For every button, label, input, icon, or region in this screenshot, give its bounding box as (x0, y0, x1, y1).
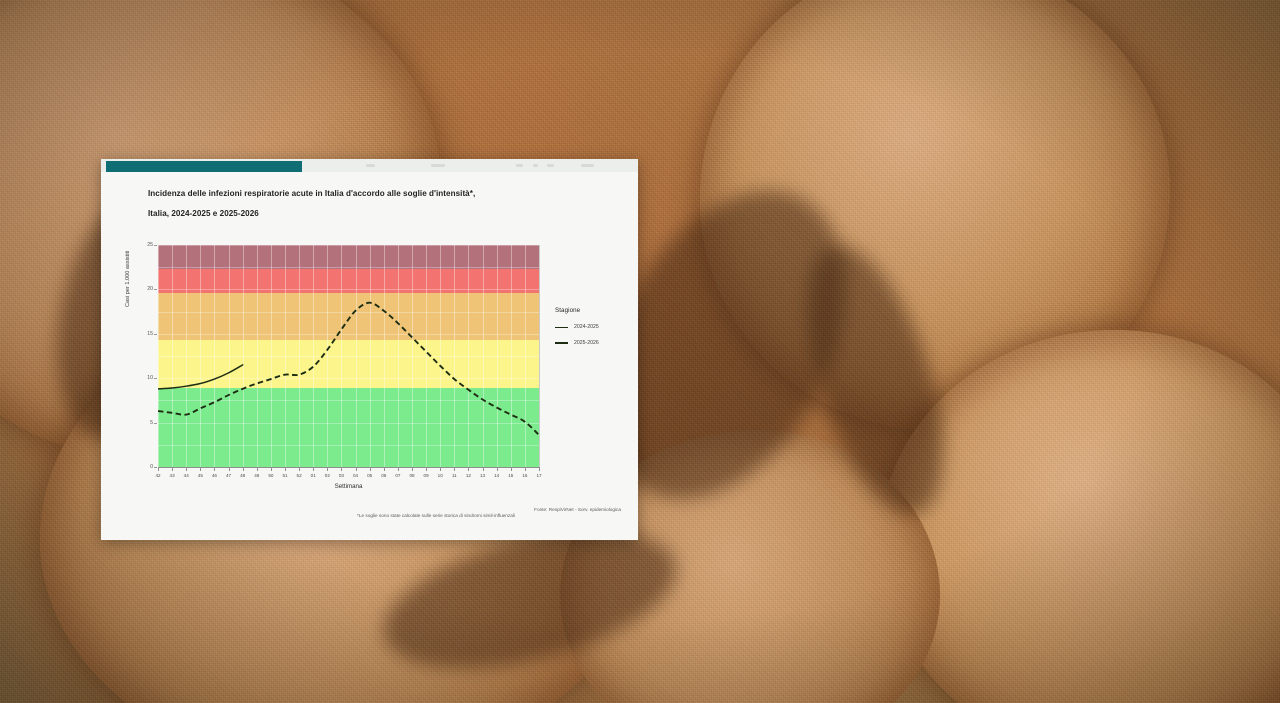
x-axis-tick-mark (327, 468, 328, 471)
x-axis-tick-mark (200, 468, 201, 471)
x-axis-tick-label: 02 (320, 473, 334, 478)
x-axis-tick-mark (172, 468, 173, 471)
legend-item-2025-2026: 2025-2026 (555, 337, 625, 349)
x-axis-tick-label: 13 (476, 473, 490, 478)
y-axis-tick-mark (154, 334, 157, 335)
x-axis-tick-mark (158, 468, 159, 471)
y-axis-tick-mark (154, 289, 157, 290)
y-axis-tick-label: 5 (135, 420, 153, 426)
chart-legend: Stagione 2024-2025 2025-2026 (555, 307, 625, 353)
x-axis-tick-mark (497, 468, 498, 471)
legend-item-label: 2025-2026 (574, 340, 599, 346)
x-axis-tick-mark (412, 468, 413, 471)
x-axis-tick-mark (257, 468, 258, 471)
chart-title: Incidenza delle infezioni respiratorie a… (148, 190, 618, 199)
y-axis-tick-mark (154, 467, 157, 468)
x-axis-tick-mark (398, 468, 399, 471)
y-axis-tick-mark (154, 423, 157, 424)
x-axis-tick-mark (440, 468, 441, 471)
x-axis-tick-label: 01 (306, 473, 320, 478)
chart-subtitle: Italia, 2024-2025 e 2025-2026 (148, 209, 259, 218)
gridline-vertical (539, 245, 540, 467)
x-axis-tick-label: 16 (518, 473, 532, 478)
y-axis-tick-label: 10 (135, 375, 153, 381)
x-axis-tick-label: 49 (250, 473, 264, 478)
legend-line-swatch (555, 327, 568, 328)
y-axis-tick-label: 15 (135, 331, 153, 337)
x-axis-label: Settimana (158, 483, 539, 490)
x-axis-tick-label: 06 (377, 473, 391, 478)
line-season-2025-2026 (158, 303, 539, 435)
x-axis-tick-mark (313, 468, 314, 471)
x-axis-tick-mark (370, 468, 371, 471)
y-axis-tick-label: 0 (135, 464, 153, 470)
x-axis-tick-mark (468, 468, 469, 471)
x-axis-tick-label: 51 (278, 473, 292, 478)
x-axis-tick-mark (511, 468, 512, 471)
x-axis-tick-mark (186, 468, 187, 471)
y-axis-tick-label: 25 (135, 242, 153, 248)
x-axis-tick-label: 17 (532, 473, 546, 478)
x-axis-tick-label: 45 (193, 473, 207, 478)
x-axis-tick-mark (299, 468, 300, 471)
x-axis-tick-label: 43 (165, 473, 179, 478)
screenshot-stage: Incidenza delle infezioni respiratorie a… (0, 0, 1280, 703)
x-axis-tick-mark (426, 468, 427, 471)
x-axis-tick-mark (525, 468, 526, 471)
x-axis-tick-label: 47 (222, 473, 236, 478)
chart-source-note: Fonte: RespiVirNet - Sorv. epidemiologic… (251, 507, 621, 520)
card-accent-bar (106, 161, 302, 172)
x-axis-tick-label: 05 (363, 473, 377, 478)
series-lines (158, 245, 539, 467)
x-axis-tick-label: 12 (461, 473, 475, 478)
legend-line-swatch (555, 342, 568, 344)
x-axis-tick-label: 07 (391, 473, 405, 478)
source-line-2: *Le soglie sono state calcolate sulle se… (251, 513, 621, 519)
chart-card: Incidenza delle infezioni respiratorie a… (101, 159, 638, 540)
x-axis-tick-label: 04 (349, 473, 363, 478)
x-axis-tick-label: 52 (292, 473, 306, 478)
x-axis-tick-label: 48 (236, 473, 250, 478)
line-season-2024-2025 (158, 365, 243, 389)
x-axis-tick-label: 50 (264, 473, 278, 478)
x-axis-tick-label: 10 (433, 473, 447, 478)
legend-item-label: 2024-2025 (574, 324, 599, 330)
y-axis-tick-label: 20 (135, 286, 153, 292)
x-axis-tick-label: 42 (151, 473, 165, 478)
plot-panel (158, 245, 540, 467)
x-axis-tick-mark (229, 468, 230, 471)
card-topbar-marks (311, 159, 638, 172)
x-axis-tick-label: 11 (447, 473, 461, 478)
card-top-bar (101, 159, 638, 172)
x-axis-tick-mark (341, 468, 342, 471)
x-axis-tick-mark (214, 468, 215, 471)
x-axis-tick-label: 14 (490, 473, 504, 478)
y-axis-label: Casi per 1.000 assistiti (125, 187, 131, 307)
x-axis-tick-label: 08 (405, 473, 419, 478)
x-axis-tick-label: 09 (419, 473, 433, 478)
legend-title: Stagione (555, 307, 625, 314)
x-axis-tick-label: 15 (504, 473, 518, 478)
plot-area: Casi per 1.000 assistiti 0510152025 4243… (121, 245, 621, 495)
x-axis-tick-mark (243, 468, 244, 471)
x-axis-tick-mark (539, 468, 540, 471)
x-axis-tick-mark (384, 468, 385, 471)
x-axis-tick-mark (285, 468, 286, 471)
x-axis-tick-mark (454, 468, 455, 471)
x-axis-tick-mark (483, 468, 484, 471)
x-axis-tick-label: 44 (179, 473, 193, 478)
x-axis-tick-label: 46 (207, 473, 221, 478)
x-axis-tick-mark (271, 468, 272, 471)
x-axis-tick-mark (356, 468, 357, 471)
legend-item-2024-2025: 2024-2025 (555, 321, 625, 333)
y-axis-tick-mark (154, 245, 157, 246)
x-axis-tick-label: 03 (334, 473, 348, 478)
y-axis-tick-mark (154, 378, 157, 379)
